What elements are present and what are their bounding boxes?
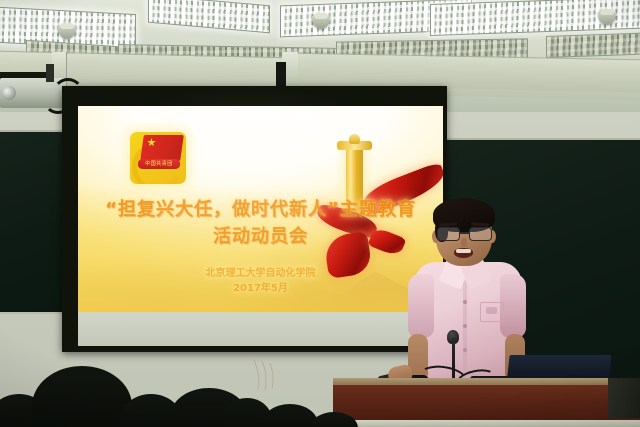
slide-title-line1: “担复兴大任，做时代新人”主题教育 xyxy=(105,199,416,220)
flag-icon xyxy=(140,135,184,161)
presenter-nose xyxy=(461,238,467,247)
wooden-lectern xyxy=(333,384,640,427)
valance-gap xyxy=(276,62,286,86)
projector-lens-icon xyxy=(2,86,16,100)
slide-subtitle-date: 2017年5月 xyxy=(78,281,443,296)
screen-surface: 中国共青团 “担复兴大任，做时代新人”主题教育 活动动员会 北京理工大学自动化学… xyxy=(78,106,443,346)
eyeglass-lens xyxy=(437,227,460,241)
presenter-mouth xyxy=(454,248,473,258)
screen-blank-strip xyxy=(78,312,443,346)
presenter-sleeve-left xyxy=(408,274,434,338)
ceiling-light-panel xyxy=(546,32,640,58)
wall-scribble xyxy=(248,358,288,392)
slide-title: “担复兴大任，做时代新人”主题教育 活动动员会 xyxy=(78,196,443,250)
emblem-banner-text: 中国共青团 xyxy=(138,159,180,169)
lectern-top-edge xyxy=(333,378,640,385)
presentation-slide: 中国共青团 “担复兴大任，做时代新人”主题教育 活动动员会 北京理工大学自动化学… xyxy=(78,106,443,312)
eyeglass-lens xyxy=(469,227,492,241)
ceiling-light-panel xyxy=(148,0,270,33)
presenter-shirt-pocket xyxy=(480,302,504,322)
presenter-shirt-placket xyxy=(463,280,467,380)
slide-subtitle: 北京理工大学自动化学院 2017年5月 xyxy=(78,266,443,296)
shirt-button xyxy=(463,300,467,304)
communist-youth-league-emblem: 中国共青团 xyxy=(130,132,186,184)
shirt-button xyxy=(463,324,467,328)
projection-screen: 中国共青团 “担复兴大任，做时代新人”主题教育 活动动员会 北京理工大学自动化学… xyxy=(62,86,447,352)
lectern-side-panel xyxy=(608,378,640,418)
eyeglass-bridge xyxy=(459,232,470,234)
slide-title-line2: 活动动员会 xyxy=(78,223,443,250)
projector-mount xyxy=(46,64,54,82)
slide-subtitle-org: 北京理工大学自动化学院 xyxy=(78,266,443,281)
lecture-hall-scene: 中国共青团 “担复兴大任，做时代新人”主题教育 活动动员会 北京理工大学自动化学… xyxy=(0,0,640,427)
lectern-base xyxy=(333,420,640,427)
shirt-button xyxy=(463,348,467,352)
